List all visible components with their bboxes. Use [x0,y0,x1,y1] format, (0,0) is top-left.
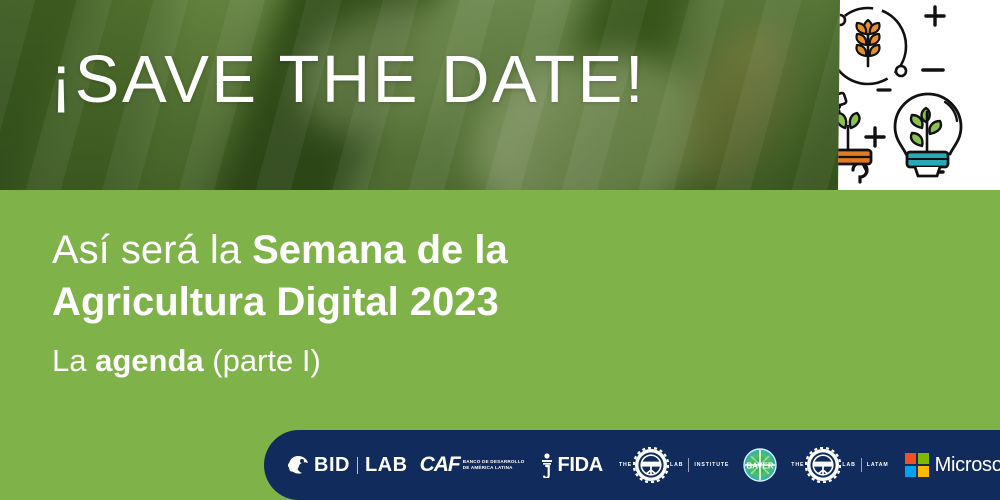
yield-lab-latam-suffix: LATAM [867,462,889,468]
yield-lab-institute-divider [688,458,689,472]
wheat-in-orbit-icon [830,8,906,84]
bayer-cross-icon: BAYER [743,448,777,482]
heading-line-2: Agricultura Digital 2023 [52,282,499,322]
bid-label: BID [314,454,350,477]
caf-logo[interactable]: CAF BANCO DE DESARROLLO DE AMÉRICA LATIN… [420,453,525,477]
yield-lab-latam-post: LAB [842,462,855,468]
bid-leaf-icon [286,454,309,476]
yield-lab-institute-suffix: INSTITUTE [694,462,729,468]
yield-lab-gear-icon [633,447,669,483]
caf-tagline: BANCO DE DESARROLLO DE AMÉRICA LATINA [463,459,525,471]
bid-lab-divider [357,457,358,474]
microsoft-label: Microsoft [935,454,1000,477]
page-title: ¡SAVE THE DATE! [50,46,646,113]
yield-lab-gear-icon [805,447,841,483]
subheading-prefix: La [52,343,95,378]
heading-line-1: Así será la Semana de la [52,230,508,270]
yield-lab-latam-pre: THE [791,462,804,468]
sponsor-logo-bar: BID LAB CAF BANCO DE DESARROLLO DE AMÉRI… [264,430,1000,500]
yield-lab-institute-pre: THE [619,462,632,468]
bid-lab-logo[interactable]: BID LAB [286,454,408,477]
yield-lab-institute-post: LAB [670,462,683,468]
lightbulb-plant-icon [895,94,961,176]
plus-mark-icon [926,7,944,25]
microsoft-logo[interactable]: Microsoft [905,453,1000,477]
heading-line-1-bold: Semana de la [252,228,508,272]
bayer-label: BAYER [747,462,774,471]
subheading-bold: agenda [95,343,204,378]
fida-label: FIDA [557,454,602,477]
caf-label: CAF [420,453,460,477]
fida-logo[interactable]: FIDA [538,452,602,478]
plus-mark-icon [866,128,884,146]
subheading: La agenda (parte I) [52,345,321,376]
yield-lab-latam-logo[interactable]: THE LAB LATAM [791,447,888,483]
lab-label: LAB [365,454,408,477]
caf-tagline-line2: DE AMÉRICA LATINA [463,465,513,471]
bayer-logo[interactable]: BAYER [743,448,777,482]
save-the-date-banner: ¡SAVE THE DATE! [0,0,1000,500]
yield-lab-institute-logo[interactable]: THE LAB INSTITUTE [619,447,729,483]
subheading-suffix: (parte I) [204,343,321,378]
yield-lab-latam-divider [861,458,862,472]
heading-line-1-plain: Así será la [52,228,252,272]
fida-emblem-icon [538,452,556,478]
microsoft-squares-icon [905,453,929,477]
